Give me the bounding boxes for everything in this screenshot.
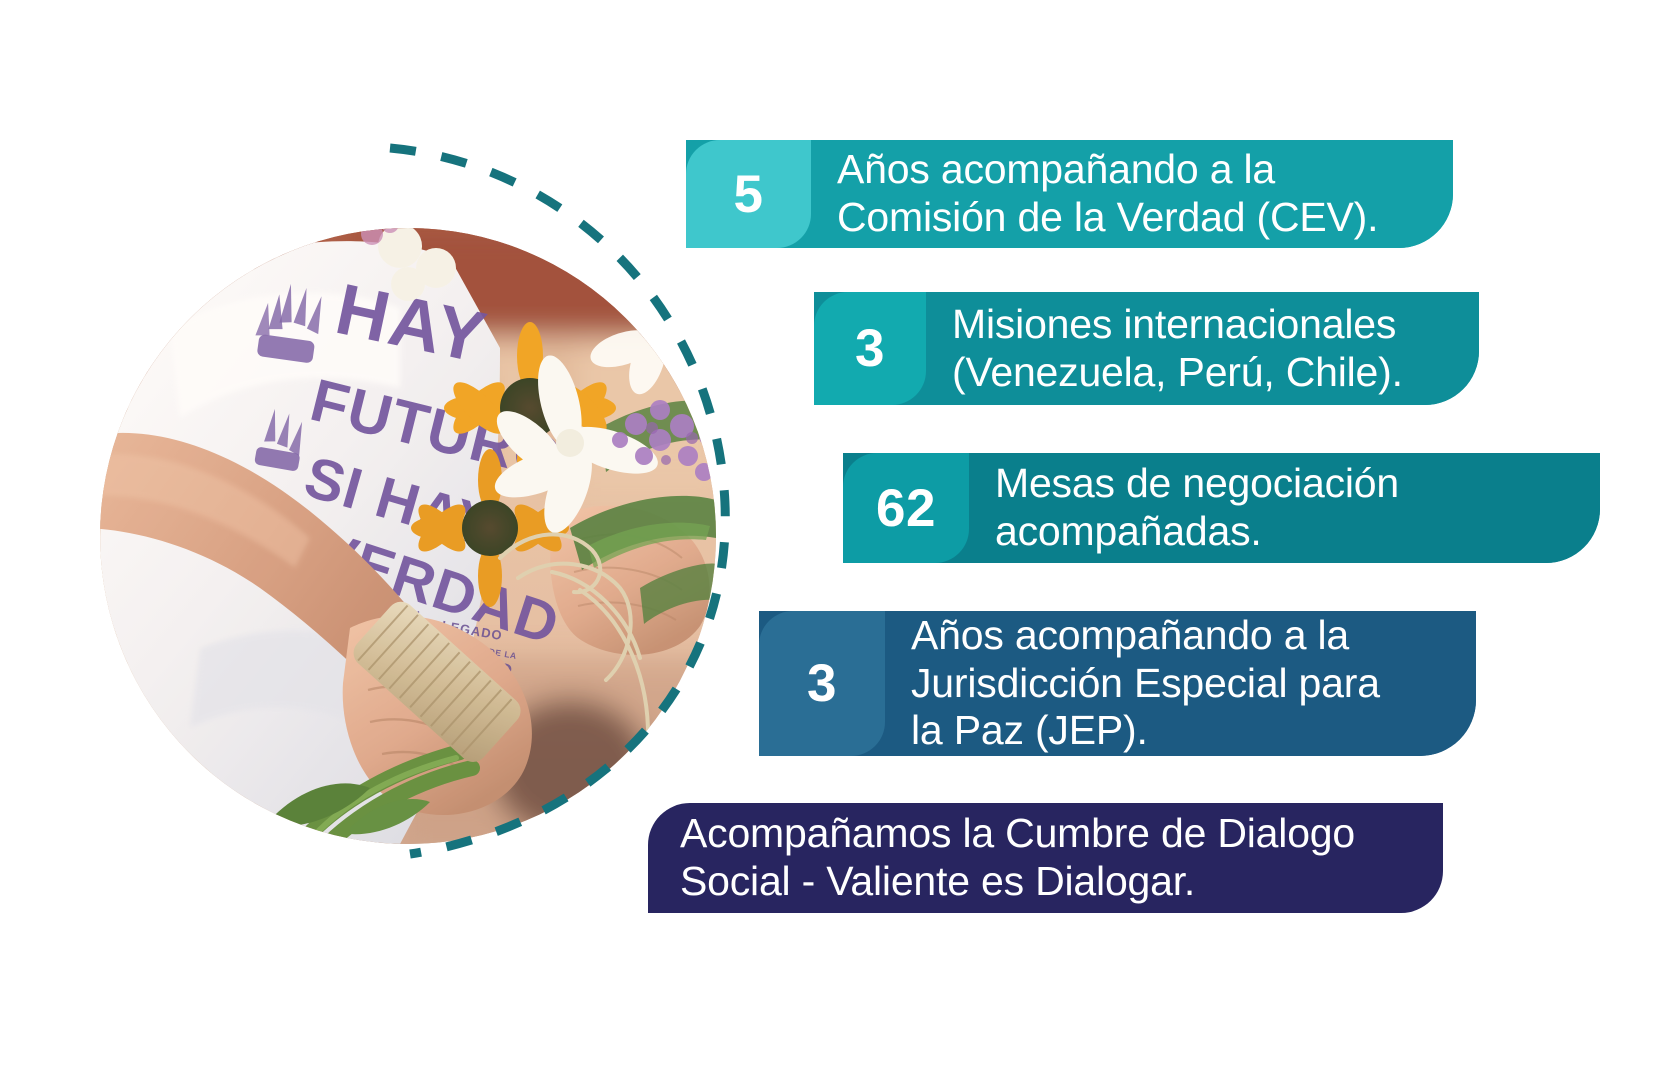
stat-text: Años acompañando a la Jurisdicción Espec…: [885, 611, 1476, 756]
stat-number-badge: 62: [843, 453, 969, 563]
stat-text: Mesas de negociación acompañadas.: [969, 453, 1600, 563]
photo-circle: HAY FUTURO SI HAY VERDAD: [100, 228, 716, 844]
stat-text-line: Jurisdicción Especial para: [911, 660, 1380, 708]
stat-card-misiones: 3 Misiones internacionales (Venezuela, P…: [814, 292, 1479, 405]
stat-number-badge: 5: [686, 140, 811, 248]
stat-text-line: (Venezuela, Perú, Chile).: [952, 349, 1403, 397]
stat-text-line: Misiones internacionales: [952, 301, 1403, 349]
stat-card-cumbre: Acompañamos la Cumbre de Dialogo Social …: [648, 803, 1443, 913]
stat-text: Años acompañando a la Comisión de la Ver…: [811, 140, 1453, 248]
stat-text-line: Acompañamos la Cumbre de Dialogo: [680, 810, 1355, 858]
stat-text-line: Mesas de negociación: [995, 460, 1399, 508]
stat-number-badge: 3: [814, 292, 926, 405]
stat-card-cev: 5 Años acompañando a la Comisión de la V…: [686, 140, 1453, 248]
stat-text: Acompañamos la Cumbre de Dialogo Social …: [648, 803, 1443, 913]
stat-text-line: acompañadas.: [995, 508, 1399, 556]
stat-card-jep: 3 Años acompañando a la Jurisdicción Esp…: [759, 611, 1476, 756]
stat-text-line: la Paz (JEP).: [911, 707, 1380, 755]
stat-text: Misiones internacionales (Venezuela, Per…: [926, 292, 1479, 405]
stat-text-line: Social - Valiente es Dialogar.: [680, 858, 1355, 906]
photo-image: HAY FUTURO SI HAY VERDAD: [100, 228, 716, 844]
stat-text-line: Años acompañando a la: [837, 146, 1378, 194]
stat-card-mesas: 62 Mesas de negociación acompañadas.: [843, 453, 1600, 563]
stat-text-line: Años acompañando a la: [911, 612, 1380, 660]
stat-number-badge: 3: [759, 611, 885, 756]
stat-text-line: Comisión de la Verdad (CEV).: [837, 194, 1378, 242]
